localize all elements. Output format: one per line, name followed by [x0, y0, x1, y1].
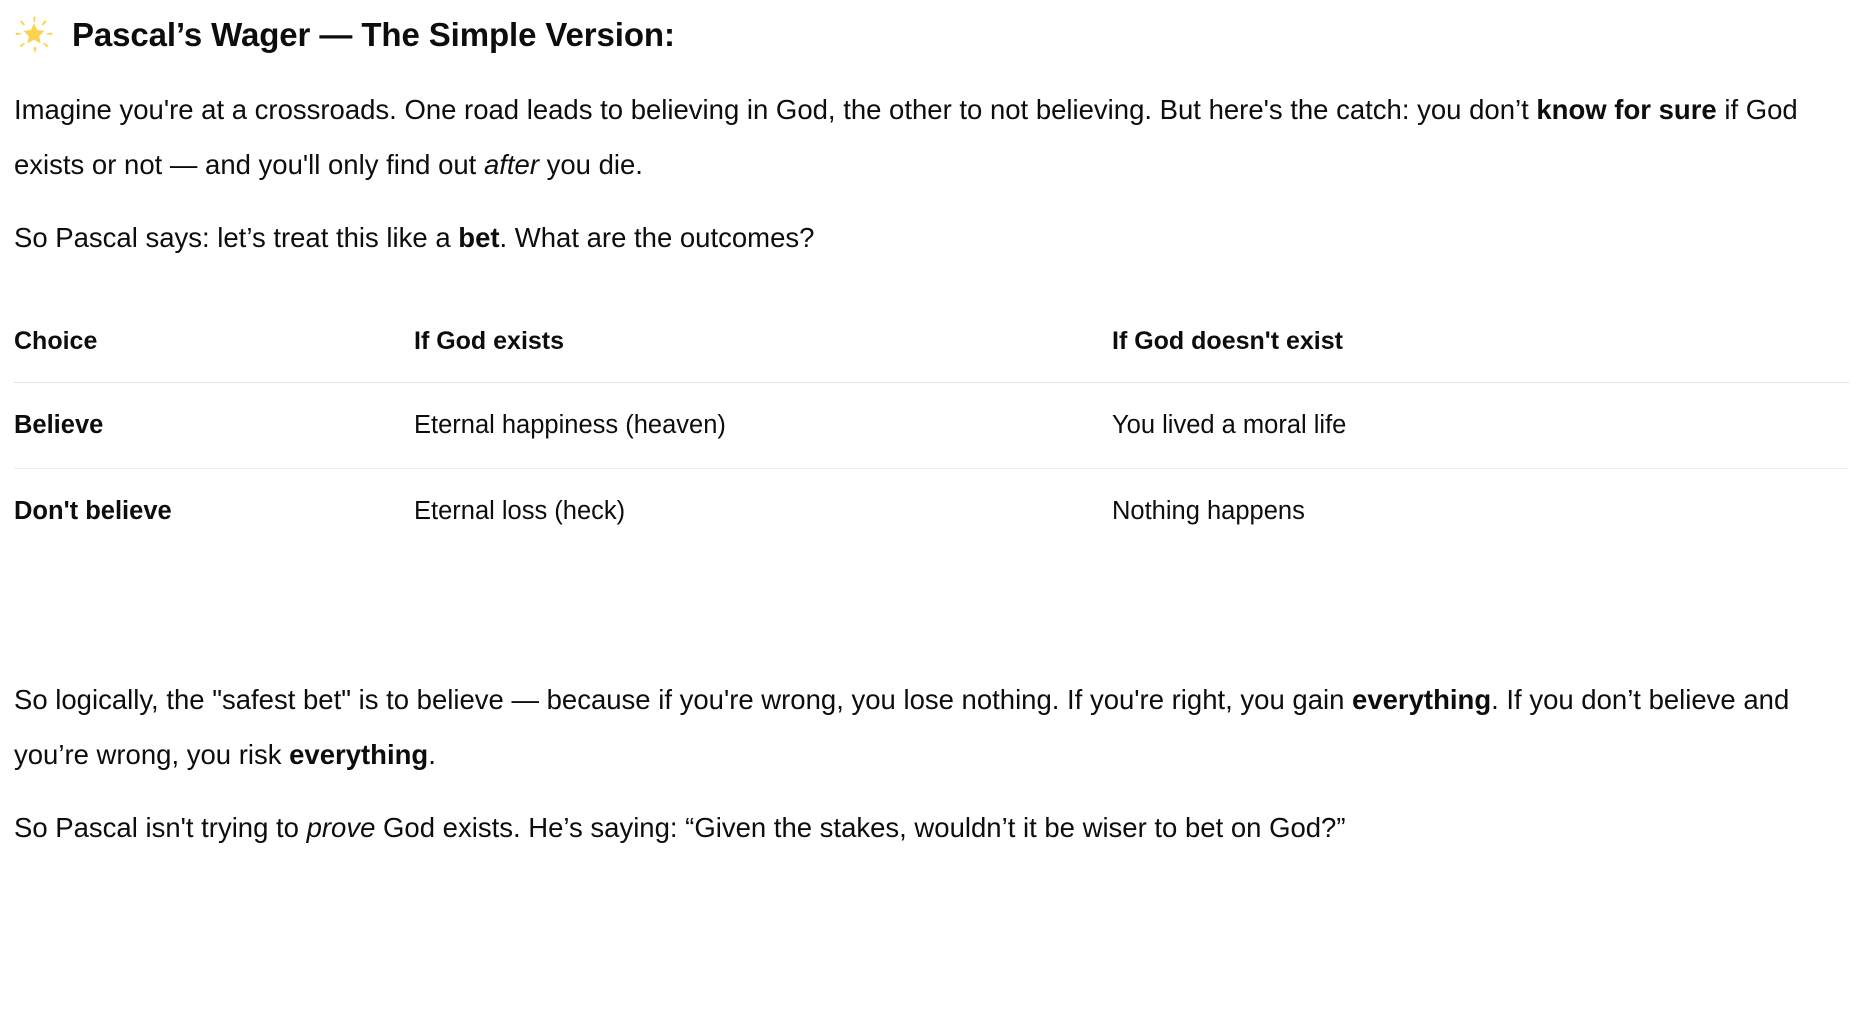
table-row: Don't believe Eternal loss (heck) Nothin… — [14, 469, 1849, 555]
closing-italic-prove: prove — [307, 812, 376, 843]
setup-segment-1: So Pascal says: let’s treat this like a — [14, 222, 458, 253]
column-header-if-god-doesnt-exist: If God doesn't exist — [1112, 327, 1849, 383]
intro-segment-3: you die. — [539, 149, 643, 180]
table-header-row: Choice If God exists If God doesn't exis… — [14, 327, 1849, 383]
page-title: Pascal’s Wager — The Simple Version: — [14, 0, 1849, 62]
intro-italic-after: after — [484, 149, 539, 180]
setup-segment-2: . What are the outcomes? — [500, 222, 815, 253]
closing-segment-1: So Pascal isn't trying to — [14, 812, 307, 843]
intro-bold-know-for-sure: know for sure — [1536, 94, 1716, 125]
table-spacer — [14, 554, 1849, 650]
closing-paragraph: So Pascal isn't trying to prove God exis… — [14, 800, 1849, 855]
table-row: Believe Eternal happiness (heaven) You l… — [14, 383, 1849, 469]
intro-paragraph: Imagine you're at a crossroads. One road… — [14, 82, 1849, 192]
closing-segment-2: God exists. He’s saying: “Given the stak… — [375, 812, 1345, 843]
glowing-star-icon — [14, 15, 54, 55]
wager-outcomes-table: Choice If God exists If God doesn't exis… — [14, 327, 1849, 554]
cell-choice-dont-believe: Don't believe — [14, 469, 414, 555]
intro-segment-1: Imagine you're at a crossroads. One road… — [14, 94, 1536, 125]
cell-dont-believe-if-not-exists: Nothing happens — [1112, 469, 1849, 555]
setup-paragraph: So Pascal says: let’s treat this like a … — [14, 210, 1849, 265]
conclusion-segment-1: So logically, the "safest bet" is to bel… — [14, 684, 1352, 715]
conclusion-bold-everything-2: everything — [289, 739, 428, 770]
conclusion-bold-everything-1: everything — [1352, 684, 1491, 715]
column-header-if-god-exists: If God exists — [414, 327, 1112, 383]
cell-believe-if-not-exists: You lived a moral life — [1112, 383, 1849, 469]
conclusion-paragraph: So logically, the "safest bet" is to bel… — [14, 672, 1849, 782]
article-body: Pascal’s Wager — The Simple Version: Ima… — [0, 0, 1863, 855]
setup-bold-bet: bet — [458, 222, 499, 253]
cell-dont-believe-if-exists: Eternal loss (heck) — [414, 469, 1112, 555]
cell-believe-if-exists: Eternal happiness (heaven) — [414, 383, 1112, 469]
column-header-choice: Choice — [14, 327, 414, 383]
conclusion-segment-3: . — [428, 739, 436, 770]
cell-choice-believe: Believe — [14, 383, 414, 469]
page-title-text: Pascal’s Wager — The Simple Version: — [72, 16, 675, 54]
